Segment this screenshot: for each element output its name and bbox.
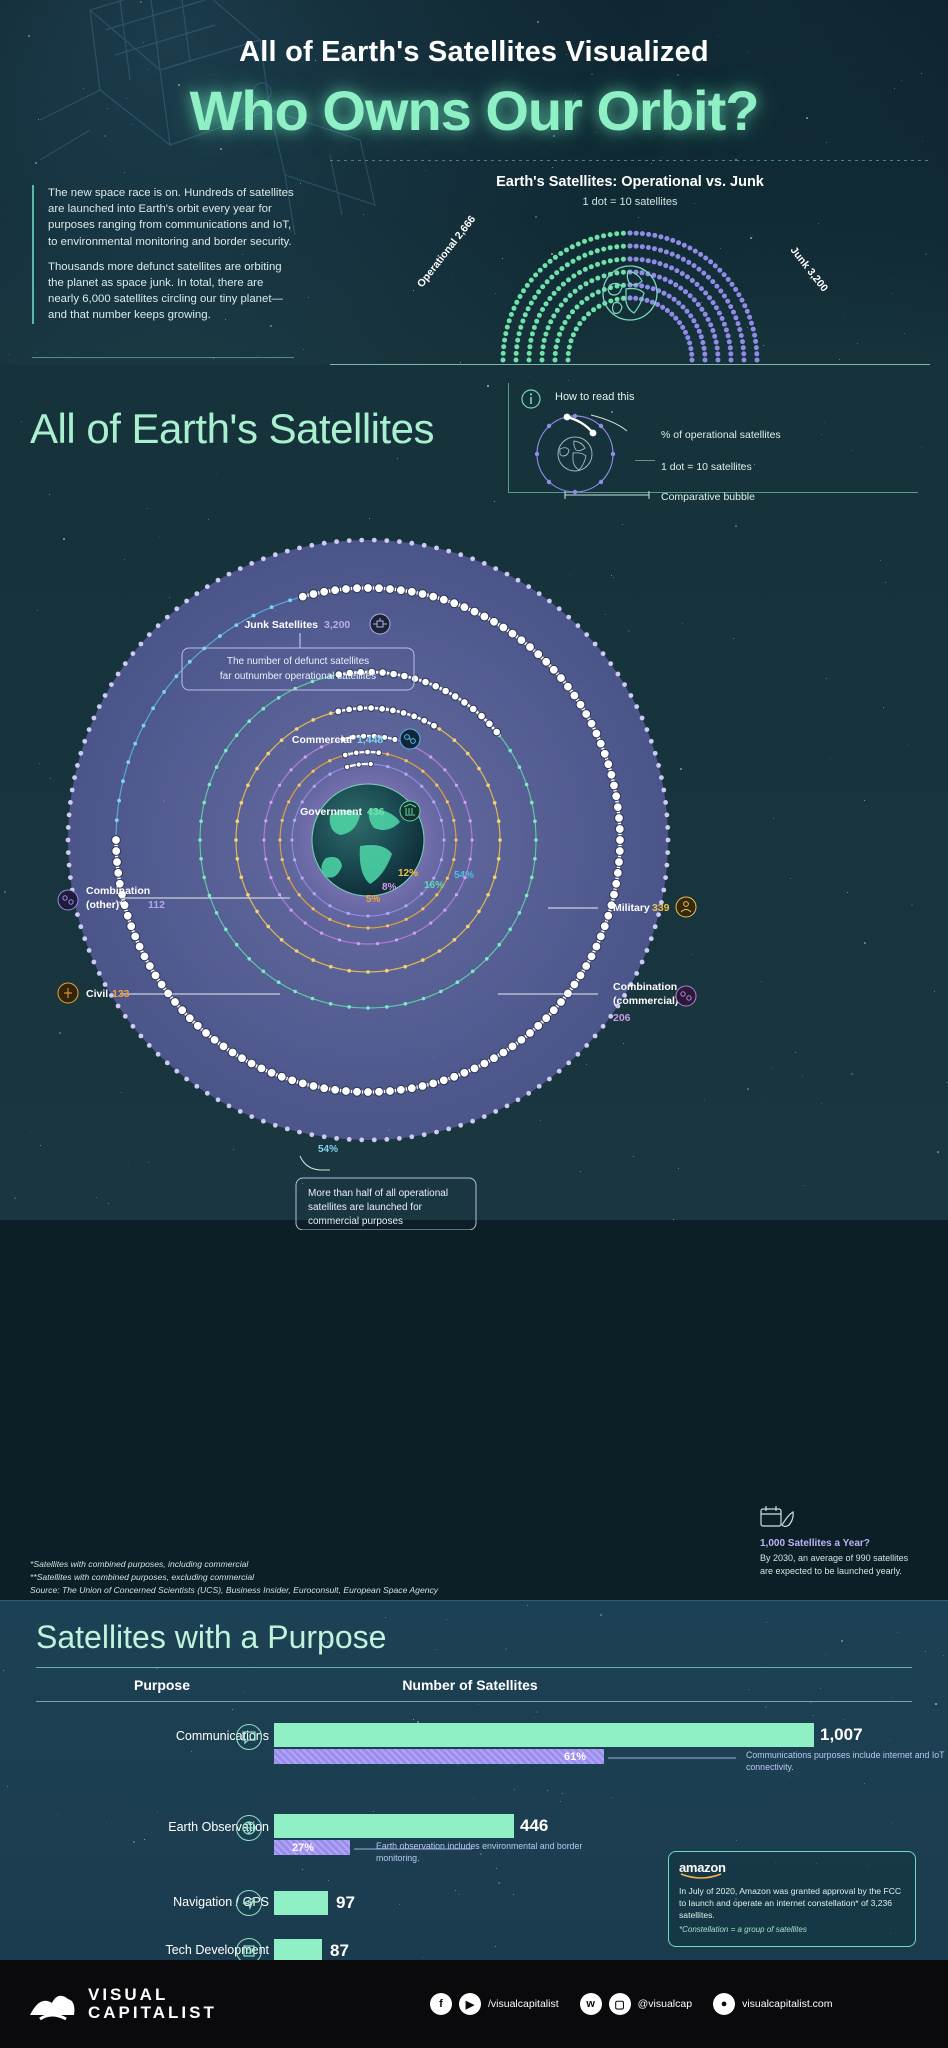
svg-text:339: 339: [652, 902, 670, 914]
satellites-a-year-box: 1,000 Satellites a Year? By 2030, an ave…: [760, 1505, 920, 1578]
operational-vs-junk-chart: Earth's Satellites: Operational vs. Junk…: [330, 160, 930, 365]
satellites-with-a-purpose-section: Satellites with a Purpose Purpose Number…: [0, 1600, 948, 1960]
orbital-diagram: Junk Satellites 3,200 The number of defu…: [0, 470, 948, 1230]
intro-text-block: The new space race is on. Hundreds of sa…: [32, 185, 294, 324]
footnote-1: *Satellites with combined purposes, incl…: [30, 1558, 590, 1571]
pct-government: 16%: [424, 880, 444, 891]
column-header-number: Number of Satellites: [300, 1677, 640, 1693]
arc-chart-subtitle: 1 dot = 10 satellites: [330, 196, 930, 208]
pct-communications: 61%: [564, 1751, 586, 1763]
footnotes-block: *Satellites with combined purposes, incl…: [30, 1558, 590, 1597]
amazon-logo: amazon: [679, 1860, 905, 1875]
svg-text:Combination: Combination: [86, 885, 150, 897]
note-communications: Communications purposes include internet…: [746, 1749, 948, 1774]
svg-text:(other)**: (other)**: [86, 899, 128, 911]
svg-text:133: 133: [112, 988, 130, 1000]
intro-paragraph-1: The new space race is on. Hundreds of sa…: [48, 185, 294, 250]
brand-line-2: CAPITALIST: [88, 2004, 217, 2022]
page-title-main: Who Owns Our Orbit?: [0, 78, 948, 143]
arc-label-junk: Junk 3,200: [788, 244, 831, 294]
globe-icon[interactable]: ●: [713, 1993, 735, 2015]
section-title-all-satellites: All of Earth's Satellites: [30, 405, 434, 453]
pct-earth-observation: 27%: [292, 1842, 314, 1854]
bar-earth-observation: [274, 1814, 514, 1838]
note-leader-communications: [608, 1757, 738, 1759]
bar-pct-communications: [274, 1749, 604, 1764]
handle-twitter[interactable]: @visualcap: [638, 1998, 692, 2010]
navigation-gps-icon: [236, 1890, 262, 1916]
amazon-body-text: In July of 2020, Amazon was granted appr…: [679, 1885, 905, 1921]
intro-divider: [32, 357, 294, 358]
callout-commercial-line3: commercial purposes: [308, 1216, 403, 1227]
bar-navigation-gps: [274, 1891, 328, 1915]
instagram-icon[interactable]: ▢: [609, 1993, 631, 2015]
pct-commercial-inner: 54%: [454, 870, 474, 881]
pct-combination-commercial: 8%: [382, 882, 397, 893]
twitter-icon[interactable]: w: [580, 1993, 602, 2015]
callout-commercial-line1: More than half of all operational: [308, 1188, 448, 1199]
callout-commercial-line2: satellites are launched for: [308, 1202, 423, 1213]
value-earth-observation: 446: [520, 1816, 548, 1836]
vc-mountain-icon: [26, 1983, 78, 2025]
svg-text:436: 436: [367, 806, 385, 818]
facebook-icon[interactable]: f: [430, 1993, 452, 2015]
pct-military: 12%: [398, 868, 418, 879]
calendar-rocket-icon: [760, 1505, 794, 1531]
intro-paragraph-2: Thousands more defunct satellites are or…: [48, 259, 294, 324]
how-to-read-heading: How to read this: [555, 391, 634, 403]
handle-facebook[interactable]: /visualcapitalist: [488, 1998, 559, 2010]
website-url[interactable]: visualcapitalist.com: [742, 1998, 832, 2010]
yearbox-title: 1,000 Satellites a Year?: [760, 1538, 920, 1549]
communications-icon: [236, 1724, 262, 1750]
svg-text:Combination: Combination: [613, 981, 677, 993]
callout-junk-line1: The number of defunct satellites: [227, 656, 369, 667]
legend-earth-icon: [558, 437, 592, 471]
value-tech-development: 87: [330, 1941, 349, 1961]
svg-text:Government: Government: [300, 806, 362, 818]
arc-top-divider: [330, 160, 930, 161]
legend-pct-label: % of operational satellites: [661, 429, 781, 441]
svg-text:206: 206: [613, 1012, 631, 1024]
site-footer: VISUAL CAPITALIST f ▶ /visualcapitalist …: [0, 1960, 948, 2048]
arc-chart-title: Earth's Satellites: Operational vs. Junk: [330, 174, 930, 190]
svg-text:3,200: 3,200: [324, 619, 350, 631]
column-header-purpose: Purpose: [62, 1677, 262, 1693]
amazon-footnote: *Constellation = a group of satellites: [679, 1925, 905, 1934]
purpose-rule-bottom: [36, 1701, 912, 1702]
svg-text:112: 112: [148, 899, 165, 911]
pct-civil: 5%: [366, 894, 381, 905]
arc-dot-plot: Operational 2,666 Junk 3,200: [330, 210, 930, 365]
page-title-top: All of Earth's Satellites Visualized: [0, 36, 948, 69]
value-communications: 1,007: [820, 1725, 863, 1745]
earth-observation-icon: [236, 1815, 262, 1841]
footnote-2: **Satellites with combined purposes, exc…: [30, 1571, 590, 1584]
youtube-icon[interactable]: ▶: [459, 1993, 481, 2015]
arc-label-operational: Operational 2,666: [415, 213, 478, 289]
value-navigation-gps: 97: [336, 1893, 355, 1913]
social-links: f ▶ /visualcapitalist w ▢ @visualcap ● v…: [430, 1993, 847, 2015]
hero-section: All of Earth's Satellites Visualized Who…: [0, 0, 948, 365]
info-icon: [521, 389, 541, 409]
callout-junk-line2: far outnumber operational satellites: [220, 671, 376, 682]
svg-text:Military: Military: [613, 902, 650, 914]
svg-text:Civil: Civil: [86, 988, 108, 1000]
note-earth-observation: Earth observation includes environmental…: [376, 1840, 606, 1865]
bar-communications: [274, 1723, 814, 1747]
pct-commercial-bottom: 54%: [318, 1144, 338, 1155]
visual-capitalist-logo[interactable]: VISUAL CAPITALIST: [26, 1983, 217, 2025]
purpose-chart-title: Satellites with a Purpose: [36, 1619, 386, 1656]
svg-text:1,448: 1,448: [357, 734, 383, 746]
footnote-source: Source: The Union of Concerned Scientist…: [30, 1584, 590, 1597]
yearbox-body: By 2030, an average of 990 satellites ar…: [760, 1552, 920, 1578]
purpose-rule-top: [36, 1667, 912, 1668]
svg-text:Junk Satellites: Junk Satellites: [244, 619, 318, 631]
legend-leader-lines: [589, 411, 659, 461]
brand-line-1: VISUAL: [88, 1986, 217, 2004]
svg-text:(commercial)*: (commercial)*: [613, 995, 683, 1007]
svg-text:Commercial: Commercial: [292, 734, 352, 746]
amazon-callout-box: amazon In July of 2020, Amazon was grant…: [668, 1851, 916, 1947]
